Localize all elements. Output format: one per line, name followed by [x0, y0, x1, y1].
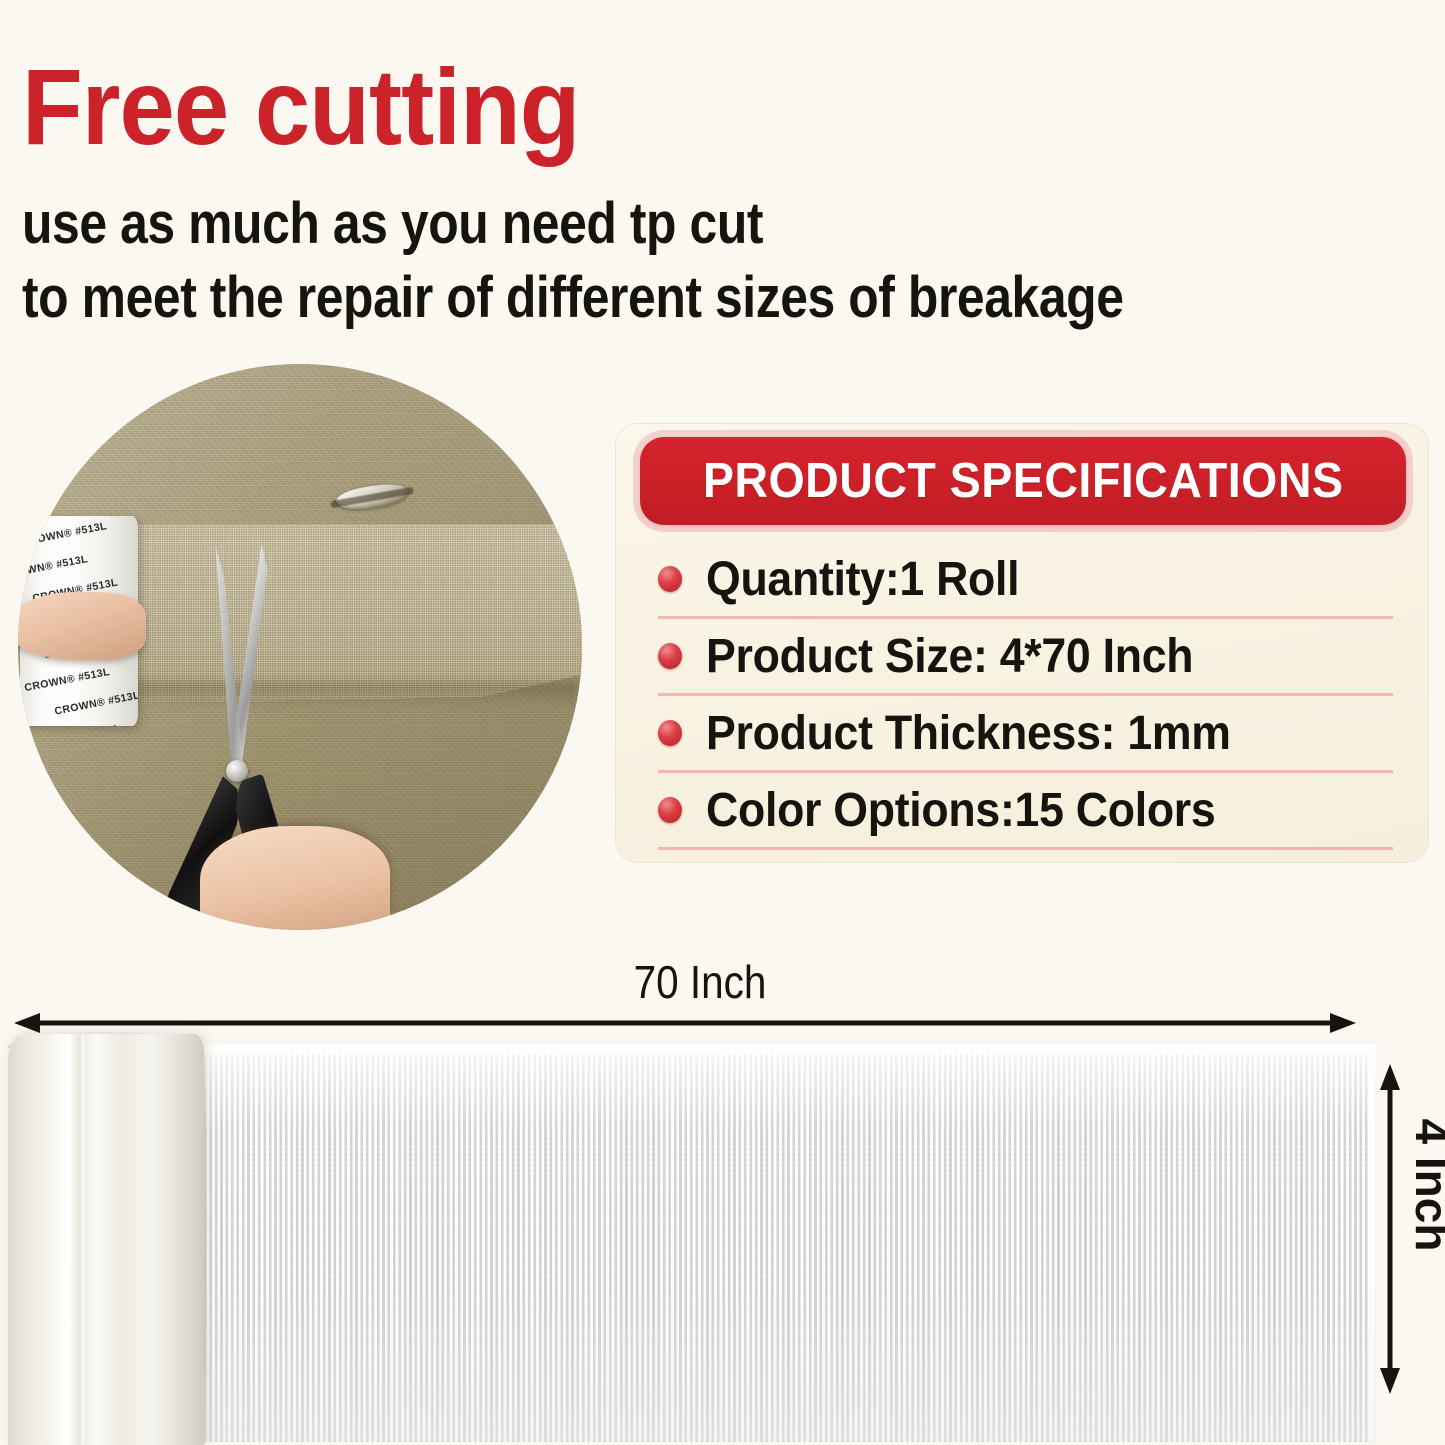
- width-dimension-arrow-icon: [1378, 1064, 1402, 1394]
- bullet-icon: [658, 720, 682, 746]
- tape-roll-product: [8, 1034, 204, 1445]
- cutting-demo-photo: CROWN® #513L CROWN® #513L CROWN® #513L C…: [18, 364, 582, 930]
- specifications-banner-title: PRODUCT SPECIFICATIONS: [703, 453, 1344, 509]
- scissor-pivot-screw: [226, 760, 248, 782]
- fabric-flap: [108, 524, 582, 704]
- page-title: Free cutting: [22, 52, 1319, 162]
- spec-row-product-size: Product Size: 4*70 Inch: [658, 619, 1393, 696]
- length-dimension-label: 70 Inch: [84, 955, 1316, 1009]
- tape-sheen-overlay: [196, 1044, 1376, 1442]
- spec-label-product-size: Product Size: 4*70 Inch: [706, 629, 1193, 684]
- bullet-icon: [658, 566, 682, 592]
- headline-block: Free cutting use as much as you need tp …: [22, 52, 1432, 334]
- spec-label-color-options: Color Options:15 Colors: [706, 783, 1215, 838]
- spec-row-product-thickness: Product Thickness: 1mm: [658, 696, 1393, 773]
- specifications-panel: PRODUCT SPECIFICATIONS Quantity:1 Roll P…: [616, 424, 1428, 862]
- length-dimension-arrow-icon: [14, 1012, 1356, 1034]
- bullet-icon: [658, 797, 682, 823]
- thumb-holding-roll: [18, 592, 146, 660]
- width-dimension-label: 4 Inch: [1405, 1115, 1445, 1255]
- tape-strip-unrolled: [196, 1044, 1376, 1442]
- bullet-icon: [658, 643, 682, 669]
- spec-row-color-options: Color Options:15 Colors: [658, 773, 1393, 850]
- subtitle-line-1: use as much as you need tp cut: [22, 188, 1235, 260]
- product-infographic: Free cutting use as much as you need tp …: [0, 0, 1445, 1445]
- subtitle-line-2: to meet the repair of different sizes of…: [22, 262, 1235, 334]
- flap-shadow: [108, 682, 578, 708]
- spec-label-product-thickness: Product Thickness: 1mm: [706, 706, 1231, 761]
- spec-label-quantity: Quantity:1 Roll: [706, 552, 1019, 607]
- hand-holding-scissors: [200, 826, 390, 930]
- spec-row-quantity: Quantity:1 Roll: [658, 542, 1393, 619]
- specifications-list: Quantity:1 Roll Product Size: 4*70 Inch …: [658, 542, 1393, 850]
- specifications-banner: PRODUCT SPECIFICATIONS: [640, 437, 1406, 525]
